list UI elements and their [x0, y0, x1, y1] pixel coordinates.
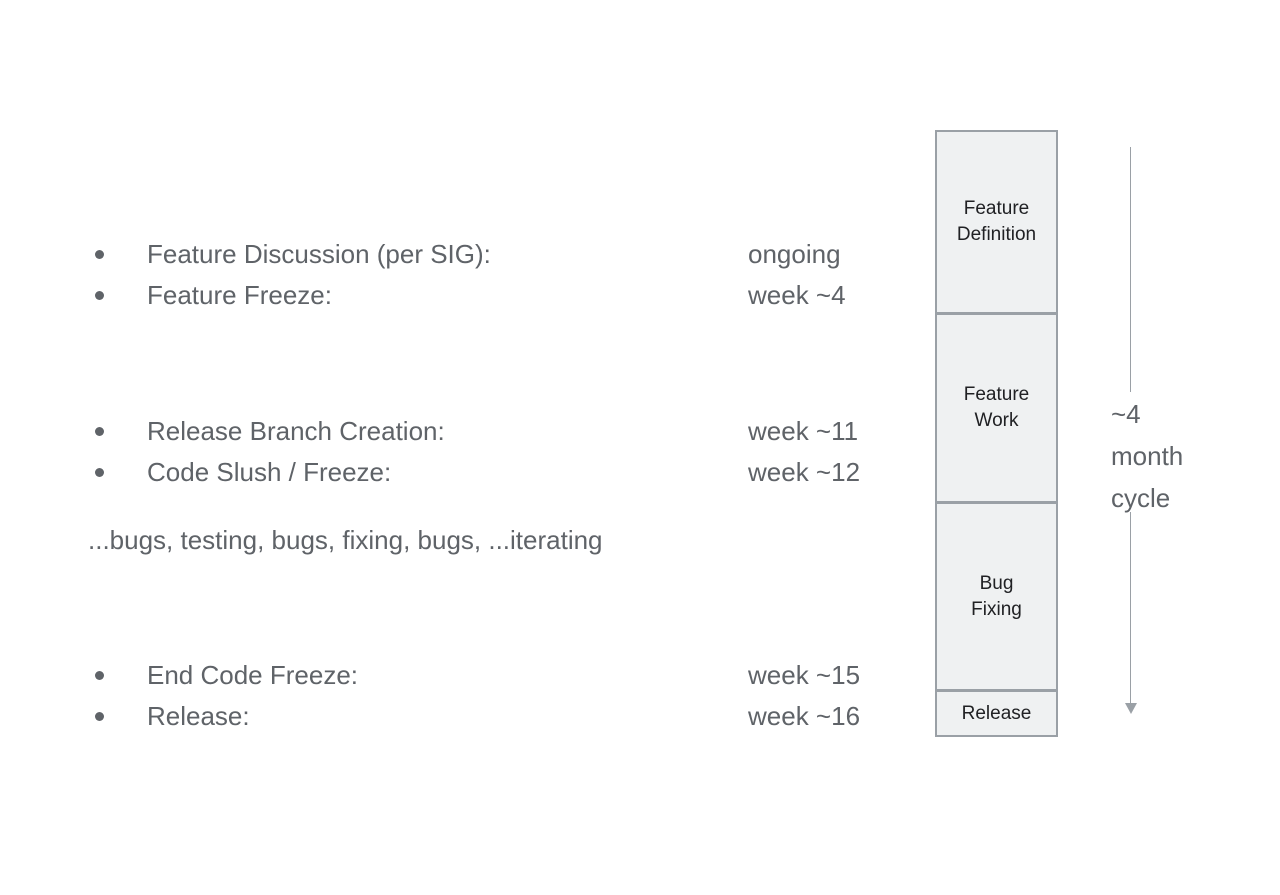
phase-block-label: Release: [962, 701, 1032, 727]
cycle-arrow-line-upper: [1130, 147, 1131, 392]
schedule-row-release: Release: week ~16: [95, 699, 895, 733]
release-schedule-list: Feature Discussion (per SIG): ongoing Fe…: [0, 0, 920, 895]
bullet-dot-icon: [95, 671, 104, 680]
phase-block-release: Release: [935, 690, 1058, 737]
phase-block-label: Bug Fixing: [971, 571, 1022, 623]
schedule-value: week ~12: [748, 455, 860, 489]
cycle-arrow-line-lower: [1130, 512, 1131, 705]
release-phase-column: Feature Definition Feature Work Bug Fixi…: [935, 130, 1058, 737]
phase-block-label: Feature Definition: [957, 196, 1036, 248]
phase-block-feature-definition: Feature Definition: [935, 130, 1058, 314]
schedule-label: Feature Discussion (per SIG):: [147, 237, 491, 271]
schedule-value: week ~11: [748, 414, 858, 448]
schedule-row-code-slush-freeze: Code Slush / Freeze: week ~12: [95, 455, 895, 489]
schedule-row-end-code-freeze: End Code Freeze: week ~15: [95, 658, 895, 692]
bullet-dot-icon: [95, 291, 104, 300]
arrow-down-icon: [1125, 703, 1137, 714]
schedule-row-feature-freeze: Feature Freeze: week ~4: [95, 278, 895, 312]
cycle-duration-label: ~4 month cycle: [1111, 393, 1261, 519]
schedule-label: Code Slush / Freeze:: [147, 455, 391, 489]
bullet-dot-icon: [95, 250, 104, 259]
schedule-label: Feature Freeze:: [147, 278, 332, 312]
bullet-dot-icon: [95, 712, 104, 721]
phase-block-feature-work: Feature Work: [935, 313, 1058, 503]
phase-block-bug-fixing: Bug Fixing: [935, 502, 1058, 691]
schedule-value: ongoing: [748, 237, 841, 271]
schedule-label: Release Branch Creation:: [147, 414, 445, 448]
iteration-note: ...bugs, testing, bugs, fixing, bugs, ..…: [88, 523, 603, 557]
phase-block-label: Feature Work: [964, 382, 1029, 434]
bullet-dot-icon: [95, 468, 104, 477]
schedule-value: week ~15: [748, 658, 860, 692]
schedule-label: End Code Freeze:: [147, 658, 358, 692]
schedule-row-release-branch-creation: Release Branch Creation: week ~11: [95, 414, 895, 448]
schedule-row-feature-discussion: Feature Discussion (per SIG): ongoing: [95, 237, 895, 271]
schedule-label: Release:: [147, 699, 250, 733]
bullet-dot-icon: [95, 427, 104, 436]
schedule-value: week ~4: [748, 278, 846, 312]
schedule-value: week ~16: [748, 699, 860, 733]
